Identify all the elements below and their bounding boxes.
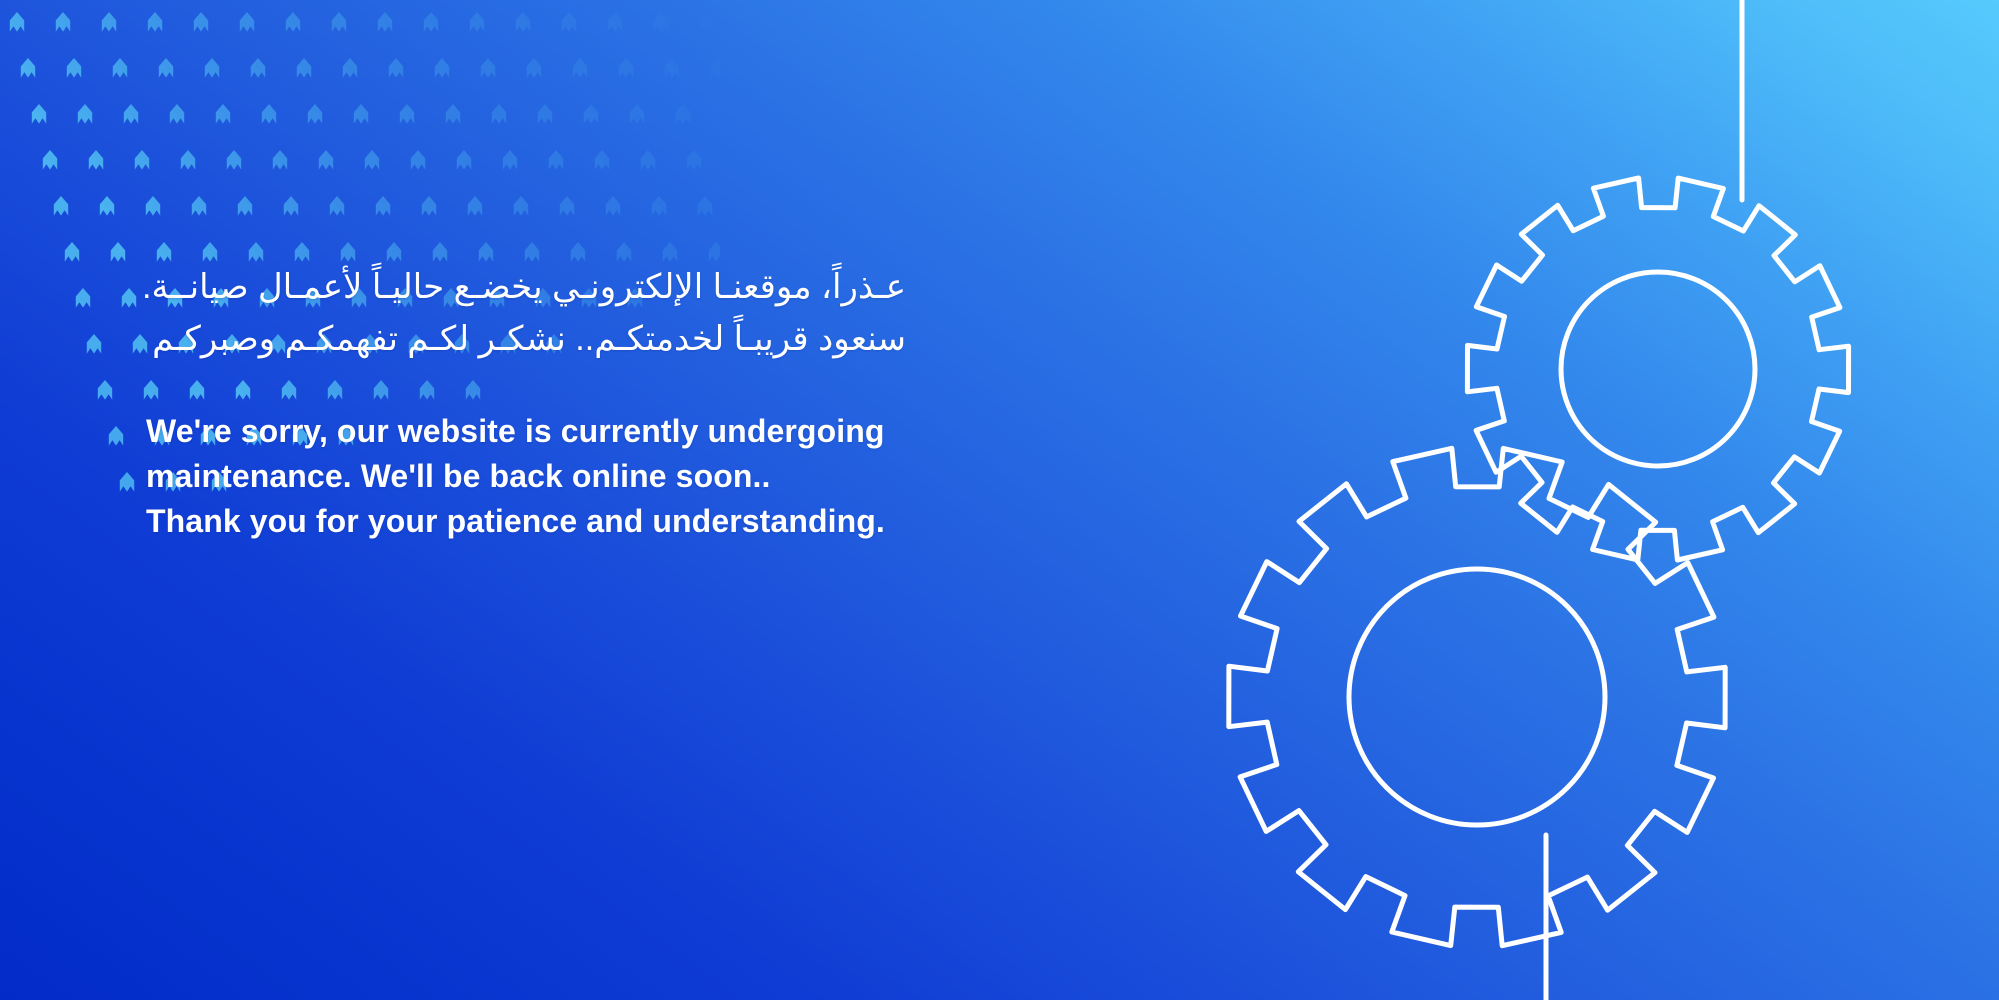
arabic-message: عـذراً، موقعنـا الإلكترونـي يخضـع حاليـا…: [146, 262, 906, 365]
english-line-1: We're sorry, our website is currently un…: [146, 409, 906, 454]
maintenance-page: عـذراً، موقعنـا الإلكترونـي يخضـع حاليـا…: [0, 0, 1999, 1000]
english-message: We're sorry, our website is currently un…: [146, 409, 906, 543]
arabic-line-1: عـذراً، موقعنـا الإلكترونـي يخضـع حاليـا…: [146, 262, 906, 314]
lower-gear: [1229, 448, 1725, 945]
arabic-line-2: سنعود قريبـاً لخدمتكـم.. نشكـر لكـم تفهم…: [146, 314, 906, 366]
lower-gear-hub: [1349, 569, 1605, 825]
english-line-2: maintenance. We'll be back online soon..: [146, 454, 906, 499]
english-line-3: Thank you for your patience and understa…: [146, 499, 906, 544]
upper-gear-teeth: [1467, 178, 1848, 560]
upper-gear-hub: [1561, 272, 1755, 466]
maintenance-message: عـذراً، موقعنـا الإلكترونـي يخضـع حاليـا…: [146, 262, 906, 544]
upper-gear: [1467, 178, 1848, 560]
lower-gear-teeth: [1229, 448, 1725, 945]
